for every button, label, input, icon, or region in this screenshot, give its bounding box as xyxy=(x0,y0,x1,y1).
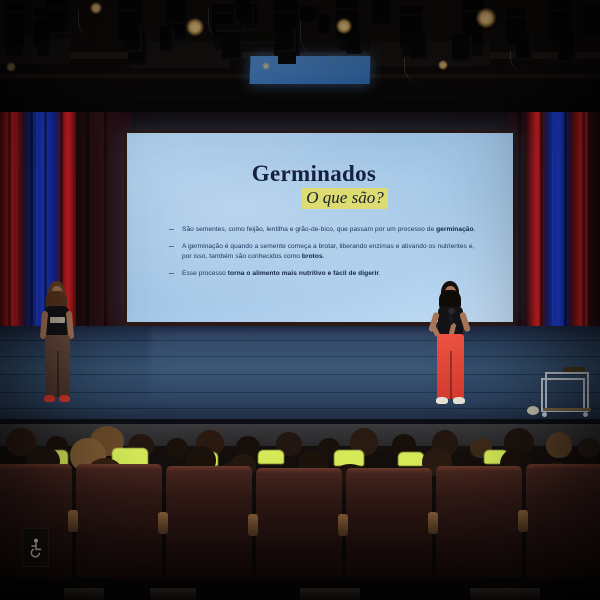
audience-head xyxy=(166,438,188,458)
projection-screen: Germinados O que são? São sementes, como… xyxy=(124,130,516,326)
rig-bulb xyxy=(438,60,448,70)
presenter-right-shoe xyxy=(436,397,448,404)
theater-seat xyxy=(526,464,600,578)
slide-bullet: São sementes, como feijão, lentilha e gr… xyxy=(169,225,483,236)
rig-bulb xyxy=(262,62,270,70)
slide-subtitle-wrap: O que são? xyxy=(207,188,483,209)
slide-content: Germinados O que são? São sementes, como… xyxy=(127,133,513,322)
floor-items xyxy=(527,406,539,415)
bullet-bold-text: torna o alimento mais nutritivo e fácil … xyxy=(228,270,379,277)
theater-seat xyxy=(256,468,342,578)
rig-bulb xyxy=(336,18,352,34)
rig-bulb xyxy=(6,62,16,72)
aisle-floor xyxy=(300,588,360,600)
seat-armrest xyxy=(338,514,348,536)
slide-bullet: Esse processo torna o alimento mais nutr… xyxy=(169,269,483,280)
theater-seat xyxy=(346,468,432,578)
slide-bullet-list: São sementes, como feijão, lentilha e gr… xyxy=(169,225,483,280)
slide-subtitle: O que são? xyxy=(302,188,387,209)
theater-seat xyxy=(166,466,252,578)
presenter-left-shirt-print xyxy=(50,317,65,323)
aisle-floor xyxy=(470,588,540,600)
bullet-bold-text: brotos xyxy=(302,253,323,260)
rig-bulb xyxy=(476,8,496,28)
bullet-text: . xyxy=(379,270,381,277)
cart-shelf xyxy=(543,408,591,411)
wheelchair-icon xyxy=(28,537,44,559)
seat-armrest xyxy=(68,510,78,532)
seat-armrest xyxy=(518,510,528,532)
seat-armrest xyxy=(428,512,438,534)
presenter-right-pants xyxy=(437,334,464,399)
presenter-left-pants xyxy=(45,335,70,397)
slide-bullet: A germinação é quando a semente começa a… xyxy=(169,242,483,263)
bullet-text: São sementes, como feijão, lentilha e gr… xyxy=(182,226,436,233)
bullet-bold-text: germinação xyxy=(436,226,474,233)
presenter-right-shoe xyxy=(453,397,465,404)
bullet-text: A germinação é quando a semente começa a… xyxy=(182,243,474,261)
aisle-floor xyxy=(64,588,104,600)
presenter-left-shoe xyxy=(44,395,55,402)
stage-lighting-rig xyxy=(0,0,600,112)
theater-seat xyxy=(76,464,162,578)
theater-seat xyxy=(436,466,522,578)
aisle-floor xyxy=(150,588,196,600)
audience-head xyxy=(578,438,600,458)
bullet-text: Esse processo xyxy=(182,270,228,277)
rig-bulb xyxy=(186,18,204,36)
slide-title: Germinados xyxy=(145,161,483,187)
presenter-left xyxy=(34,281,78,410)
presenter-left-shoe xyxy=(59,395,70,402)
cart-contents xyxy=(563,367,585,372)
student-uniform xyxy=(398,452,424,466)
audience-seating xyxy=(0,424,600,600)
seat-armrest xyxy=(248,514,258,536)
curtain-right xyxy=(508,100,600,340)
metal-frame-cart xyxy=(541,370,593,416)
auditorium-photo: Germinados O que são? São sementes, como… xyxy=(0,0,600,600)
seat-armrest xyxy=(158,512,168,534)
bullet-text: . xyxy=(323,253,325,260)
audience-head xyxy=(546,432,572,458)
projected-slide: Germinados O que são? São sementes, como… xyxy=(127,133,513,322)
bullet-text: . xyxy=(474,226,476,233)
wheelchair-accessibility-sign xyxy=(22,528,49,567)
student-uniform xyxy=(258,450,284,464)
